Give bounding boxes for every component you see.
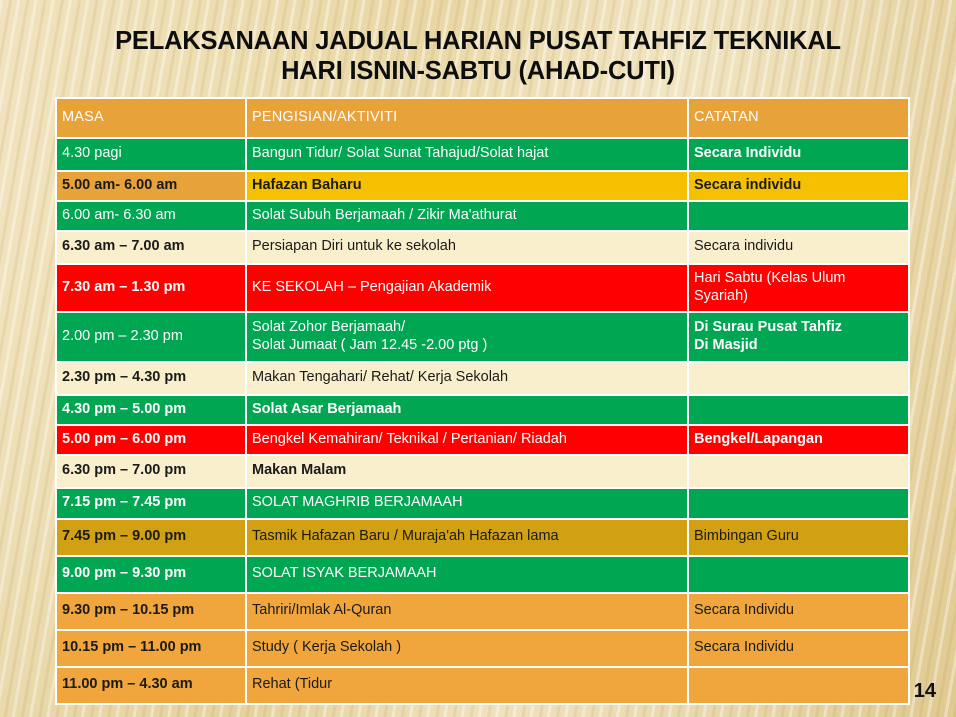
cell-aktiviti: Bengkel Kemahiran/ Teknikal / Pertanian/… [247,426,687,454]
cell-aktiviti: Bangun Tidur/ Solat Sunat Tahajud/Solat … [247,139,687,170]
table-row: 10.15 pm – 11.00 pm Study ( Kerja Sekola… [57,631,908,666]
cell-aktiviti: Makan Tengahari/ Rehat/ Kerja Sekolah [247,363,687,394]
title-line-2: HARI ISNIN-SABTU (AHAD-CUTI) [40,56,916,86]
cell-masa: 6.30 am – 7.00 am [57,232,245,263]
table-row: 7.30 am – 1.30 pm KE SEKOLAH – Pengajian… [57,265,908,311]
cell-catatan [689,363,908,394]
table-row: 6.30 pm – 7.00 pm Makan Malam [57,456,908,487]
page-number: 14 [914,680,936,703]
cell-catatan: Di Surau Pusat Tahfiz Di Masjid [689,313,908,361]
cell-catatan: Secara Individu [689,139,908,170]
table-row: 11.00 pm – 4.30 am Rehat (Tidur [57,668,908,703]
cell-aktiviti: Study ( Kerja Sekolah ) [247,631,687,666]
cell-catatan [689,557,908,592]
cell-aktiviti-line-1: Solat Zohor Berjamaah/ [252,319,682,337]
table-header-row: MASA PENGISIAN/AKTIVITI CATATAN [57,99,908,137]
table-row: 6.00 am- 6.30 am Solat Subuh Berjamaah /… [57,202,908,230]
cell-aktiviti: Rehat (Tidur [247,668,687,703]
table-row: 5.00 am- 6.00 am Hafazan Baharu Secara i… [57,172,908,200]
cell-aktiviti: SOLAT MAGHRIB BERJAMAAH [247,489,687,518]
cell-masa: 7.30 am – 1.30 pm [57,265,245,311]
cell-aktiviti: SOLAT ISYAK BERJAMAAH [247,557,687,592]
table-row: 7.45 pm – 9.00 pm Tasmik Hafazan Baru / … [57,520,908,555]
cell-aktiviti: Tasmik Hafazan Baru / Muraja'ah Hafazan … [247,520,687,555]
cell-masa: 7.15 pm – 7.45 pm [57,489,245,518]
cell-aktiviti: Makan Malam [247,456,687,487]
cell-masa: 4.30 pagi [57,139,245,170]
cell-masa: 2.30 pm – 4.30 pm [57,363,245,394]
daily-schedule-table: MASA PENGISIAN/AKTIVITI CATATAN 4.30 pag… [55,97,910,705]
cell-aktiviti: Solat Subuh Berjamaah / Zikir Ma'athurat [247,202,687,230]
cell-aktiviti: Persiapan Diri untuk ke sekolah [247,232,687,263]
cell-catatan: Secara individu [689,232,908,263]
cell-masa: 5.00 am- 6.00 am [57,172,245,200]
table-row: 9.30 pm – 10.15 pm Tahriri/Imlak Al-Qura… [57,594,908,629]
cell-catatan [689,456,908,487]
cell-catatan-line-1: Di Surau Pusat Tahfiz [694,319,903,337]
cell-masa: 6.30 pm – 7.00 pm [57,456,245,487]
column-header-catatan: CATATAN [689,99,908,137]
cell-aktiviti-line-2: Solat Jumaat ( Jam 12.45 -2.00 ptg ) [252,337,682,355]
table-row: 9.00 pm – 9.30 pm SOLAT ISYAK BERJAMAAH [57,557,908,592]
cell-masa: 9.30 pm – 10.15 pm [57,594,245,629]
cell-catatan: Hari Sabtu (Kelas Ulum Syariah) [689,265,908,311]
cell-catatan: Secara individu [689,172,908,200]
cell-masa: 10.15 pm – 11.00 pm [57,631,245,666]
cell-masa: 5.00 pm – 6.00 pm [57,426,245,454]
cell-masa: 9.00 pm – 9.30 pm [57,557,245,592]
cell-aktiviti: Solat Asar Berjamaah [247,396,687,424]
table-row: 5.00 pm – 6.00 pm Bengkel Kemahiran/ Tek… [57,426,908,454]
table-row: 2.00 pm – 2.30 pm Solat Zohor Berjamaah/… [57,313,908,361]
slide-title: PELAKSANAAN JADUAL HARIAN PUSAT TAHFIZ T… [40,26,916,86]
column-header-masa: MASA [57,99,245,137]
cell-masa: 2.00 pm – 2.30 pm [57,313,245,361]
cell-aktiviti: Hafazan Baharu [247,172,687,200]
table-row: 2.30 pm – 4.30 pm Makan Tengahari/ Rehat… [57,363,908,394]
title-line-1: PELAKSANAAN JADUAL HARIAN PUSAT TAHFIZ T… [40,26,916,56]
cell-catatan [689,489,908,518]
table-row: 7.15 pm – 7.45 pm SOLAT MAGHRIB BERJAMAA… [57,489,908,518]
cell-catatan [689,202,908,230]
cell-masa: 4.30 pm – 5.00 pm [57,396,245,424]
cell-masa: 11.00 pm – 4.30 am [57,668,245,703]
table-row: 4.30 pagi Bangun Tidur/ Solat Sunat Taha… [57,139,908,170]
cell-catatan [689,668,908,703]
cell-aktiviti: KE SEKOLAH – Pengajian Akademik [247,265,687,311]
cell-catatan: Secara Individu [689,594,908,629]
cell-catatan [689,396,908,424]
slide-canvas: PELAKSANAAN JADUAL HARIAN PUSAT TAHFIZ T… [0,0,956,717]
cell-aktiviti: Tahriri/Imlak Al-Quran [247,594,687,629]
table-row: 4.30 pm – 5.00 pm Solat Asar Berjamaah [57,396,908,424]
cell-catatan: Bengkel/Lapangan [689,426,908,454]
cell-aktiviti: Solat Zohor Berjamaah/ Solat Jumaat ( Ja… [247,313,687,361]
cell-catatan-line-2: Di Masjid [694,337,903,355]
cell-masa: 7.45 pm – 9.00 pm [57,520,245,555]
table-row: 6.30 am – 7.00 am Persiapan Diri untuk k… [57,232,908,263]
cell-catatan: Bimbingan Guru [689,520,908,555]
cell-catatan: Secara Individu [689,631,908,666]
cell-masa: 6.00 am- 6.30 am [57,202,245,230]
column-header-aktiviti: PENGISIAN/AKTIVITI [247,99,687,137]
